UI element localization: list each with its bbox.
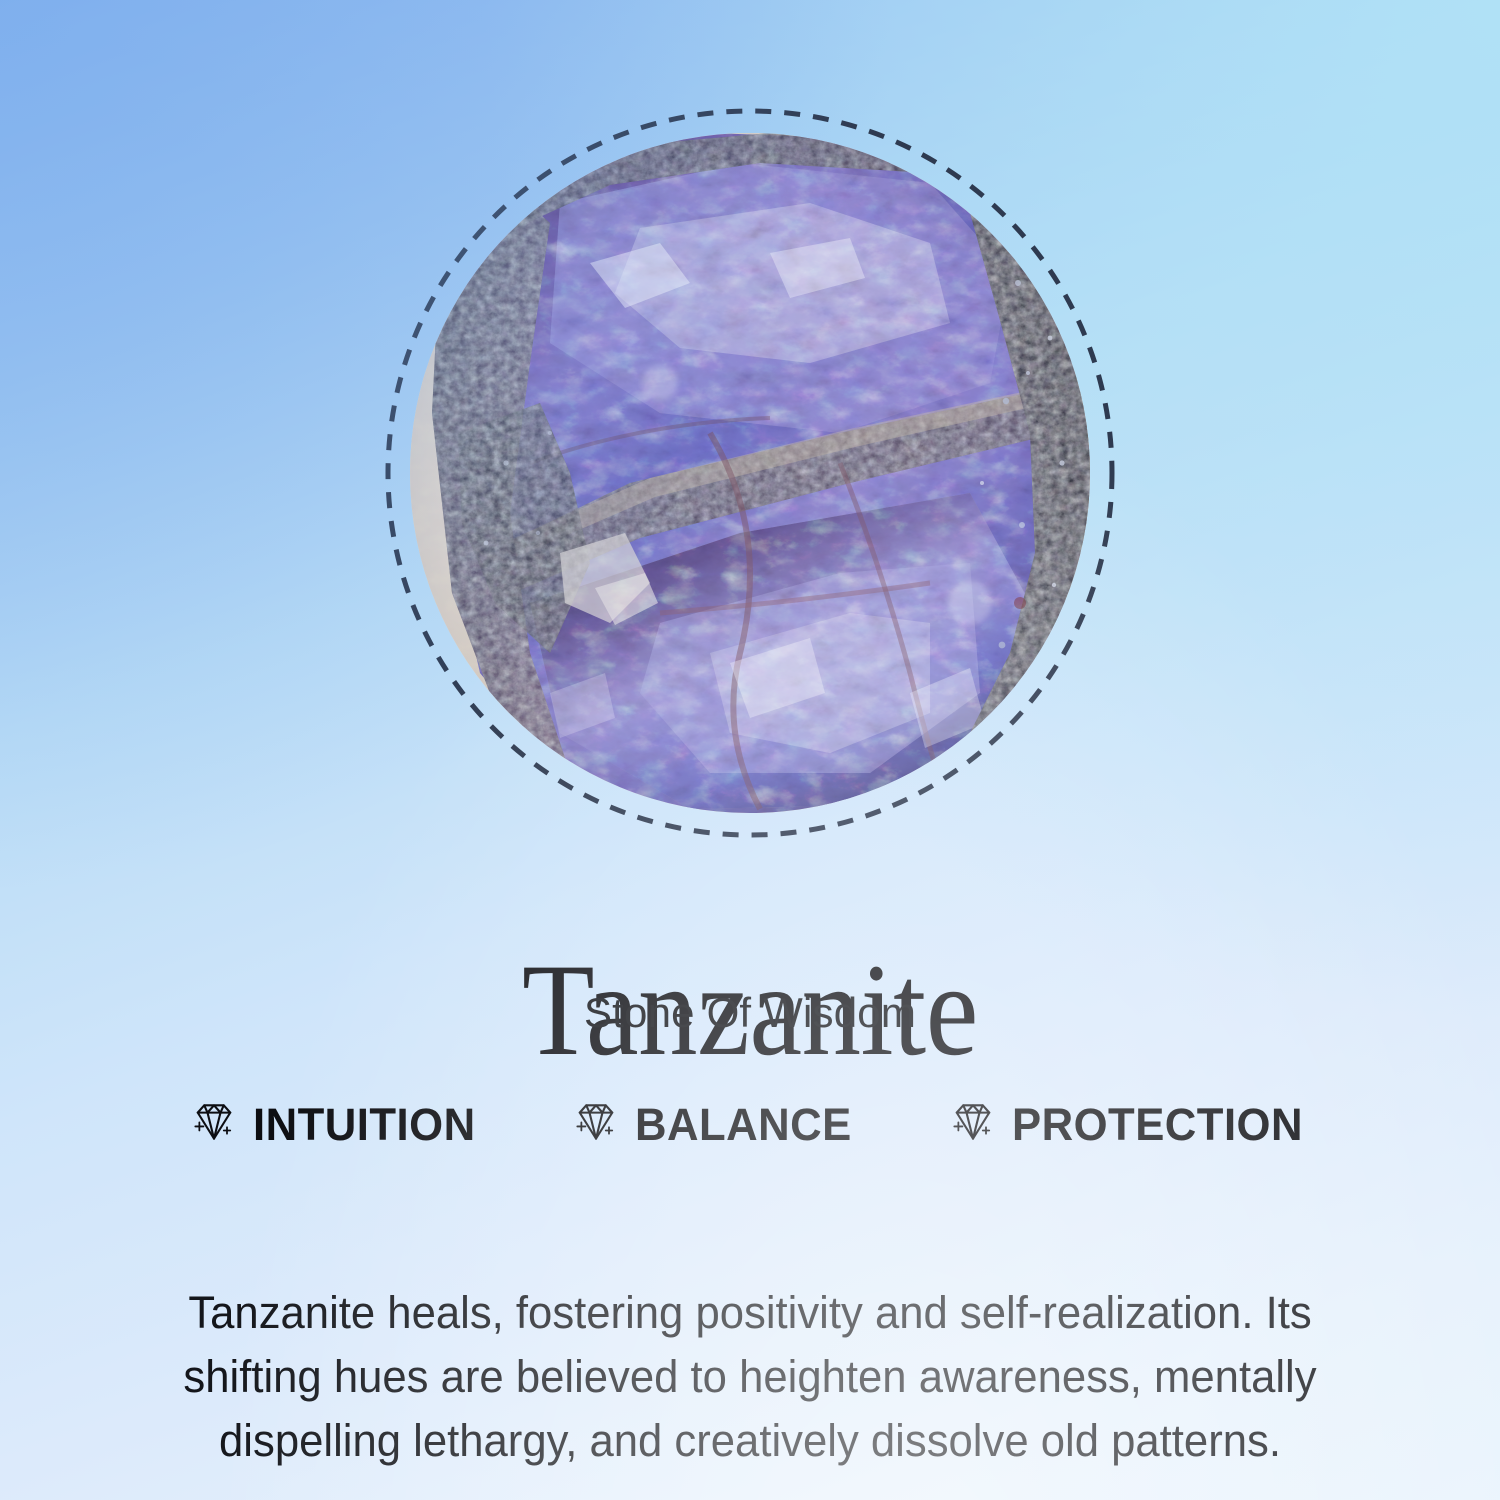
attribute-label: BALANCE <box>635 1102 852 1147</box>
attribute-label: INTUITION <box>253 1102 476 1147</box>
attribute-balance: BALANCE <box>570 1098 859 1150</box>
diamond-icon <box>188 1098 240 1150</box>
attribute-intuition: INTUITION <box>188 1098 482 1150</box>
diamond-icon <box>570 1098 622 1150</box>
attribute-protection: PROTECTION <box>947 1098 1312 1150</box>
attribute-label: PROTECTION <box>1012 1102 1303 1147</box>
hero-medallion <box>385 108 1115 838</box>
gemstone-description: Tanzanite heals, fostering positivity an… <box>118 1281 1383 1473</box>
gemstone-info-card: Tanzanite Stone Of Wisdom <box>0 0 1500 1500</box>
attribute-row: INTUITION BALANC <box>0 1098 1500 1150</box>
gemstone-subtitle: Stone Of Wisdom <box>0 992 1500 1034</box>
gem-photo <box>410 133 1090 813</box>
diamond-icon <box>947 1098 999 1150</box>
